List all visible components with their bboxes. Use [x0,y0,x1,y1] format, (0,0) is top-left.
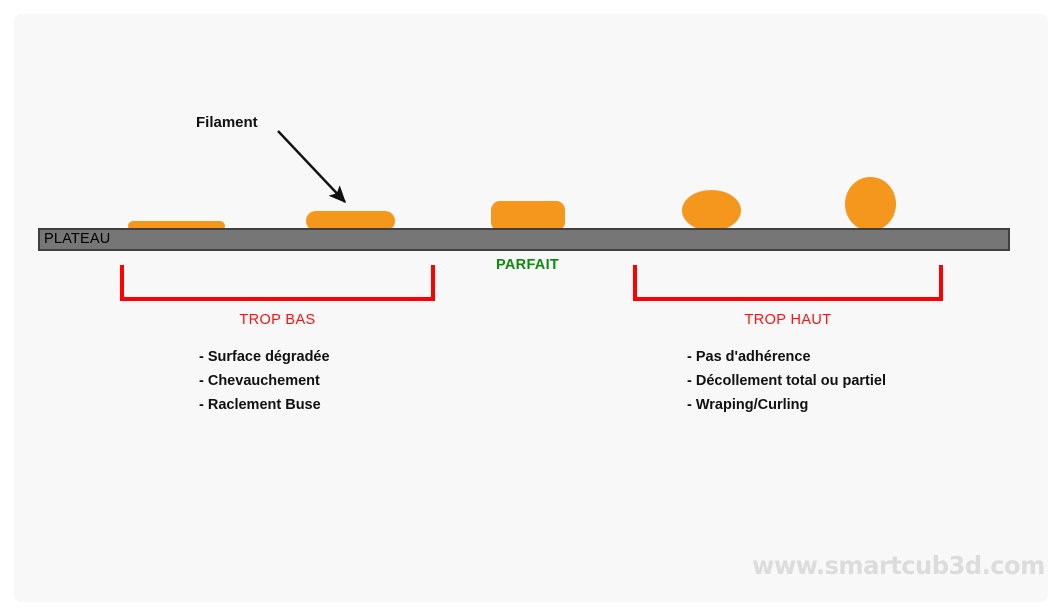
diagram-canvas: PLATEAU Filament TROP BAS- Surface dégra… [0,0,1061,616]
zone-bracket-too-low [120,265,435,301]
build-plate-bar [38,228,1010,251]
zone-bracket-too-high [633,265,943,301]
consequence-item: - Raclement Buse [199,393,330,417]
zone-label-too-low: TROP BAS [120,312,435,328]
zone-consequences-too-low: - Surface dégradée- Chevauchement- Racle… [199,345,330,417]
site-watermark: www.smartcub3d.com [752,551,1045,580]
filament-callout-label: Filament [196,114,258,131]
diagram-panel [14,14,1048,602]
filament-blob-4-rounded [682,190,741,231]
filament-callout-arrow-icon [265,120,370,220]
consequence-item: - Wraping/Curling [687,393,886,417]
perfect-zone-label: PARFAIT [496,257,559,273]
consequence-item: - Surface dégradée [199,345,330,369]
consequence-item: - Chevauchement [199,369,330,393]
zone-label-too-high: TROP HAUT [633,312,943,328]
consequence-item: - Décollement total ou partiel [687,369,886,393]
zone-consequences-too-high: - Pas d'adhérence- Décollement total ou … [687,345,886,417]
build-plate-label: PLATEAU [44,231,110,248]
consequence-item: - Pas d'adhérence [687,345,886,369]
filament-blob-5-ball [845,177,896,231]
filament-blob-3-perfect [491,201,565,231]
